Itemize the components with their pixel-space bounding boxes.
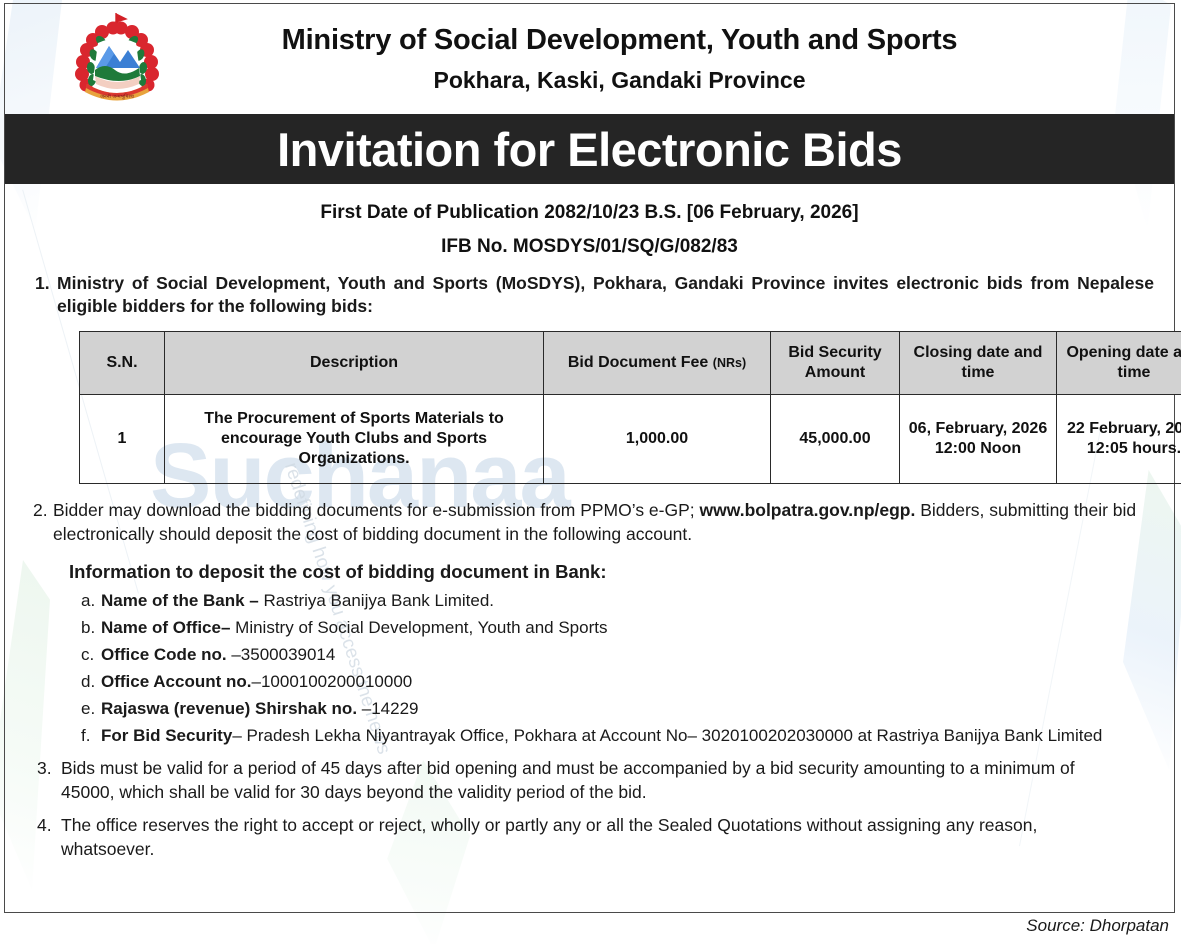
item-letter: a. xyxy=(69,589,101,613)
clause-3: 3. Bids must be valid for a period of 45… xyxy=(23,756,1156,804)
item-body: Name of Office– Ministry of Social Devel… xyxy=(101,616,1156,640)
list-item: e. Rajaswa (revenue) Shirshak no. –14229 xyxy=(69,697,1156,721)
item-body: For Bid Security– Pradesh Lekha Niyantra… xyxy=(101,724,1156,748)
item-body: Rajaswa (revenue) Shirshak no. –14229 xyxy=(101,697,1156,721)
clause-4-text: The office reserves the right to accept … xyxy=(61,813,1156,861)
item-value: –14229 xyxy=(362,699,419,718)
closing-date: 06, February, 2026 xyxy=(909,420,1047,437)
list-item: d. Office Account no.–1000100200010000 xyxy=(69,670,1156,694)
table-row: 1 The Procurement of Sports Materials to… xyxy=(80,394,1181,483)
list-item: b. Name of Office– Ministry of Social De… xyxy=(69,616,1156,640)
item-letter: e. xyxy=(69,697,101,721)
item-value: Rastriya Banijya Bank Limited. xyxy=(259,591,494,610)
document-header: जननी जन्मभूमिश्च Ministry of Social Deve… xyxy=(5,4,1174,114)
column-header-description: Description xyxy=(165,331,544,394)
cell-opening-date-time: 22 February, 2026 12:05 hours. xyxy=(1057,394,1181,483)
fee-unit: (NRs) xyxy=(713,356,746,370)
item-label: Office Code no. xyxy=(101,645,231,664)
egp-website-link[interactable]: www.bolpatra.gov.np/egp. xyxy=(700,500,916,520)
organization-name: Ministry of Social Development, Youth an… xyxy=(65,24,1174,57)
item-label: Office Account no. xyxy=(101,672,252,691)
ifb-number-line: IFB No. MOSDYS/01/SQ/G/082/83 xyxy=(23,236,1156,258)
column-header-sn: S.N. xyxy=(80,331,165,394)
item-label: Name of Office– xyxy=(101,618,230,637)
clause-2: 2. Bidder may download the bidding docum… xyxy=(23,498,1156,547)
clause-4: 4. The office reserves the right to acce… xyxy=(23,813,1156,861)
item-label: Name of the Bank – xyxy=(101,591,259,610)
list-item: a. Name of the Bank – Rastriya Banijya B… xyxy=(69,589,1156,613)
cell-sn: 1 xyxy=(80,394,165,483)
clause-1-number: 1. xyxy=(23,272,57,319)
source-attribution: Source: Dhorpatan xyxy=(1026,916,1169,936)
header-text-block: Ministry of Social Development, Youth an… xyxy=(5,24,1174,94)
closing-time: 12:00 Noon xyxy=(935,440,1021,457)
clause-3-number: 3. xyxy=(23,756,61,804)
bank-info-heading: Information to deposit the cost of biddi… xyxy=(69,561,1156,583)
document-page: जननी जन्मभूमिश्च Ministry of Social Deve… xyxy=(4,3,1175,913)
item-label: For Bid Security xyxy=(101,726,232,745)
item-letter: d. xyxy=(69,670,101,694)
item-value: –1000100200010000 xyxy=(252,672,413,691)
nepal-government-emblem-icon: जननी जन्मभूमिश्च xyxy=(65,10,169,110)
cell-closing-date-time: 06, February, 2026 12:00 Noon xyxy=(900,394,1057,483)
clause-4-number: 4. xyxy=(23,813,61,861)
item-value: –3500039014 xyxy=(231,645,335,664)
item-body: Office Account no.–1000100200010000 xyxy=(101,670,1156,694)
item-body: Name of the Bank – Rastriya Banijya Bank… xyxy=(101,589,1156,613)
title-banner: Invitation for Electronic Bids xyxy=(5,114,1174,184)
bid-table: S.N. Description Bid Document Fee (NRs) … xyxy=(79,331,1181,484)
column-header-bid-security-amount: Bid Security Amount xyxy=(771,331,900,394)
item-letter: c. xyxy=(69,643,101,667)
clause-1-text: Ministry of Social Development, Youth an… xyxy=(57,272,1156,319)
cell-description: The Procurement of Sports Materials to e… xyxy=(165,394,544,483)
item-label: Rajaswa (revenue) Shirshak no. xyxy=(101,699,362,718)
publication-date-line: First Date of Publication 2082/10/23 B.S… xyxy=(23,202,1156,224)
list-item: f. For Bid Security– Pradesh Lekha Niyan… xyxy=(69,724,1156,748)
fee-label: Bid Document Fee xyxy=(568,354,708,371)
item-value: – Pradesh Lekha Niyantrayak Office, Pokh… xyxy=(232,726,1102,745)
opening-time: 12:05 hours. xyxy=(1087,440,1181,457)
organization-location: Pokhara, Kaski, Gandaki Province xyxy=(65,67,1174,94)
list-item: c. Office Code no. –3500039014 xyxy=(69,643,1156,667)
cell-bid-security-amount: 45,000.00 xyxy=(771,394,900,483)
item-body: Office Code no. –3500039014 xyxy=(101,643,1156,667)
column-header-bid-document-fee: Bid Document Fee (NRs) xyxy=(544,331,771,394)
clause-3-text: Bids must be valid for a period of 45 da… xyxy=(61,756,1156,804)
document-body: First Date of Publication 2082/10/23 B.S… xyxy=(5,184,1174,861)
column-header-opening-date: Opening date and time xyxy=(1057,331,1181,394)
clause-2-text-before: Bidder may download the bidding document… xyxy=(53,500,700,520)
item-letter: b. xyxy=(69,616,101,640)
clause-2-number: 2. xyxy=(23,498,53,547)
svg-text:जननी जन्मभूमिश्च: जननी जन्मभूमिश्च xyxy=(100,93,134,100)
item-letter: f. xyxy=(69,724,101,748)
column-header-closing-date: Closing date and time xyxy=(900,331,1057,394)
clause-2-text: Bidder may download the bidding document… xyxy=(53,498,1156,547)
cell-bid-document-fee: 1,000.00 xyxy=(544,394,771,483)
bank-info-list: a. Name of the Bank – Rastriya Banijya B… xyxy=(69,589,1156,749)
item-value: Ministry of Social Development, Youth an… xyxy=(230,618,607,637)
document-title: Invitation for Electronic Bids xyxy=(277,122,902,177)
table-header-row: S.N. Description Bid Document Fee (NRs) … xyxy=(80,331,1181,394)
clause-1: 1. Ministry of Social Development, Youth… xyxy=(23,272,1156,319)
opening-date: 22 February, 2026 xyxy=(1067,420,1181,437)
